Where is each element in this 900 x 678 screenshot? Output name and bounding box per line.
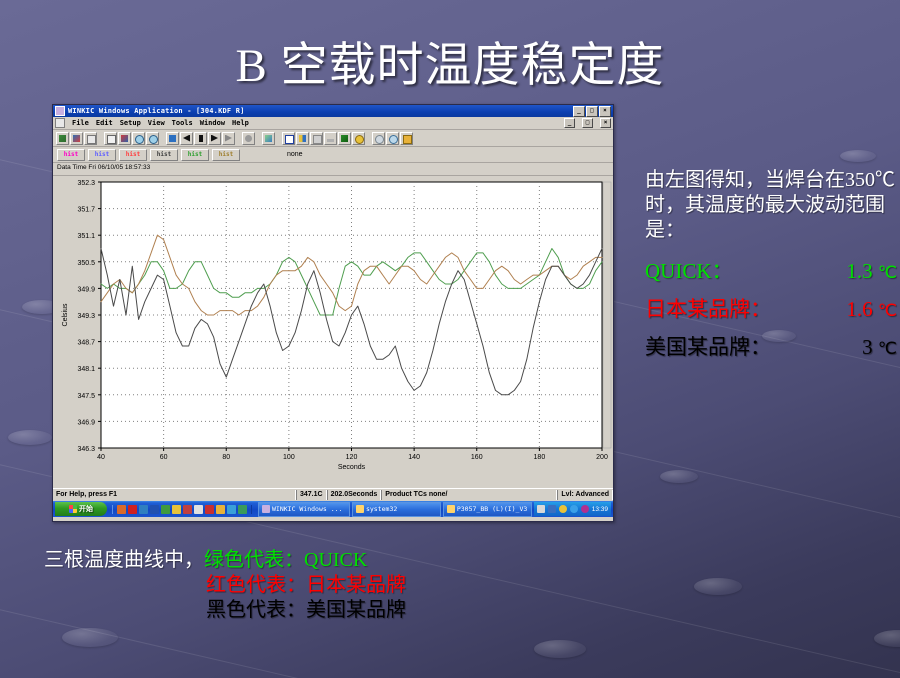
stat-icon[interactable]	[282, 132, 295, 145]
tray-icon[interactable]	[537, 505, 545, 513]
zoom-out-icon[interactable]	[146, 132, 159, 145]
info-icon[interactable]	[386, 132, 399, 145]
child-close-button[interactable]: ×	[600, 118, 611, 128]
menu-item-tools[interactable]: Tools	[172, 119, 193, 127]
result-unit-japan: ℃	[878, 301, 897, 320]
hist-button[interactable]: hist	[119, 149, 147, 161]
result-row-usa: 美国某品牌： 3 ℃	[645, 335, 897, 360]
tray-icon[interactable]	[581, 505, 589, 513]
svg-text:200: 200	[596, 454, 608, 461]
decor-ellipse	[62, 628, 118, 647]
window-title: WINKIC Windows Application - [304.KDF R]	[68, 107, 573, 115]
maximize-button[interactable]: □	[586, 106, 598, 117]
svg-text:346.9: 346.9	[77, 419, 95, 426]
taskbar-item-label: P3057_BB (L)(I)_V3	[457, 505, 527, 513]
decor-ellipse	[874, 630, 900, 647]
play-icon[interactable]	[208, 132, 221, 145]
svg-text:346.3: 346.3	[77, 446, 95, 453]
result-row-quick: QUICK： 1.3 ℃	[645, 259, 897, 284]
windows-taskbar: 开始 WINKIC Windows ...	[53, 501, 613, 517]
quicklaunch-icon[interactable]	[139, 505, 148, 514]
zoom-in-icon[interactable]	[132, 132, 145, 145]
status-seconds: 202.0Seconds	[327, 490, 382, 500]
menu-item-window[interactable]: Window	[200, 119, 225, 127]
menu-item-edit[interactable]: Edit	[96, 119, 113, 127]
slide-canvas: B 空载时温度稳定度 由左图得知，当焊台在350℃时，其温度的最大波动范围是： …	[0, 0, 900, 678]
status-product: Product TCs none/	[381, 490, 557, 500]
start-button[interactable]: 开始	[55, 502, 107, 516]
step-back-icon[interactable]	[180, 132, 193, 145]
legend-line-quick: 绿色代表：QUICK	[204, 549, 367, 571]
menu-item-file[interactable]: File	[72, 119, 89, 127]
status-level: Lvl: Advanced	[557, 490, 613, 500]
tray-icon[interactable]	[559, 505, 567, 513]
explanation-paragraph: 由左图得知，当焊台在350℃时，其温度的最大波动范围是：	[645, 168, 897, 243]
svg-text:352.3: 352.3	[77, 180, 95, 187]
profile-icon[interactable]	[262, 132, 275, 145]
close-button[interactable]: ×	[599, 106, 611, 117]
svg-text:180: 180	[534, 454, 546, 461]
svg-text:349.9: 349.9	[77, 286, 95, 293]
quicklaunch-icon[interactable]	[205, 505, 214, 514]
svg-text:60: 60	[160, 454, 168, 461]
svg-text:140: 140	[408, 454, 420, 461]
fast-forward-icon[interactable]	[222, 132, 235, 145]
curve-legend: 三根温度曲线中，绿色代表：QUICK 红色代表：日本某品牌 黑色代表：美国某品牌	[44, 548, 406, 623]
hist-button[interactable]: hist	[88, 149, 116, 161]
status-temperature: 347.1C	[296, 490, 327, 500]
slide-title: B 空载时温度稳定度	[0, 26, 900, 95]
svg-text:349.3: 349.3	[77, 313, 95, 320]
table-icon[interactable]	[310, 132, 323, 145]
result-value-usa: 3	[862, 335, 873, 359]
taskbar-clock: 13:39	[592, 506, 608, 513]
taskbar-item-system32[interactable]: system32	[352, 502, 441, 517]
data-time-label: Data Time Fri 06/10/05 18:57:33	[53, 163, 613, 176]
decor-ellipse	[694, 578, 742, 595]
temperature-chart: 352.3351.7351.1350.5349.9349.3348.7348.1…	[53, 176, 613, 488]
quicklaunch-icon[interactable]	[227, 505, 236, 514]
toolbar	[53, 130, 613, 147]
child-restore-button[interactable]: □	[582, 118, 593, 128]
decor-ellipse	[8, 430, 52, 445]
svg-text:347.5: 347.5	[77, 393, 95, 400]
svg-text:351.7: 351.7	[77, 207, 95, 214]
explanation-block: 由左图得知，当焊台在350℃时，其温度的最大波动范围是： QUICK： 1.3 …	[645, 168, 897, 373]
result-unit-quick: ℃	[878, 263, 897, 282]
chart-area: 352.3351.7351.1350.5349.9349.3348.7348.1…	[53, 176, 613, 488]
application-icon	[55, 106, 65, 116]
quicklaunch-icon[interactable]	[238, 505, 247, 514]
quick-launch-bar	[112, 505, 252, 514]
menu-bar: File Edit Setup View Tools Window Help _…	[53, 117, 613, 130]
result-unit-usa: ℃	[878, 339, 897, 358]
result-label-japan: 日本某品牌：	[645, 297, 771, 322]
taskbar-item-winkic[interactable]: WINKIC Windows ...	[258, 502, 350, 517]
svg-text:348.1: 348.1	[77, 366, 95, 373]
result-label-usa: 美国某品牌：	[645, 335, 771, 360]
quicklaunch-icon[interactable]	[216, 505, 225, 514]
quicklaunch-icon[interactable]	[117, 505, 126, 514]
decor-ellipse	[660, 470, 698, 483]
folder-icon	[356, 505, 364, 513]
edit-icon[interactable]	[104, 132, 117, 145]
menu-item-setup[interactable]: Setup	[120, 119, 141, 127]
svg-text:40: 40	[97, 454, 105, 461]
hist-button[interactable]: hist	[212, 149, 240, 161]
svg-text:100: 100	[283, 454, 295, 461]
windows-flag-icon	[69, 505, 77, 513]
grid-icon[interactable]	[296, 132, 309, 145]
status-help: For Help, press F1	[53, 490, 296, 500]
link-icon[interactable]	[324, 132, 337, 145]
hist-none-label: none	[287, 151, 303, 158]
result-label-quick: QUICK：	[645, 259, 733, 284]
quicklaunch-icon[interactable]	[172, 505, 181, 514]
quicklaunch-icon[interactable]	[150, 505, 159, 514]
quicklaunch-icon[interactable]	[194, 505, 203, 514]
result-value-quick: 1.3	[846, 259, 872, 283]
winkic-icon	[262, 505, 270, 513]
comment-icon[interactable]	[400, 132, 413, 145]
legend-line-japan: 红色代表：日本某品牌	[206, 573, 406, 598]
document-icon[interactable]	[55, 118, 65, 128]
status-bar: For Help, press F1 347.1C 202.0Seconds P…	[53, 488, 613, 501]
print-icon[interactable]	[84, 132, 97, 145]
decor-ellipse	[840, 150, 876, 162]
svg-text:348.7: 348.7	[77, 340, 95, 347]
hist-button[interactable]: hist	[150, 149, 178, 161]
undo-icon[interactable]	[166, 132, 179, 145]
svg-text:Celsius: Celsius	[62, 303, 69, 326]
hist-button[interactable]: hist	[181, 149, 209, 161]
save-data-icon[interactable]	[70, 132, 83, 145]
start-button-label: 开始	[79, 504, 93, 514]
hist-button[interactable]: hist	[57, 149, 85, 161]
window-titlebar: WINKIC Windows Application - [304.KDF R]…	[53, 105, 613, 117]
taskbar-item-label: WINKIC Windows ...	[272, 505, 342, 513]
tray-icon[interactable]	[548, 505, 556, 513]
svg-text:Seconds: Seconds	[338, 464, 366, 471]
menu-item-view[interactable]: View	[148, 119, 165, 127]
child-minimize-button[interactable]: _	[564, 118, 575, 128]
svg-text:80: 80	[222, 454, 230, 461]
quicklaunch-icon[interactable]	[128, 505, 137, 514]
taskbar-item-p3057[interactable]: P3057_BB (L)(I)_V3	[443, 502, 532, 517]
decor-ellipse	[534, 640, 586, 658]
folder-icon	[447, 505, 455, 513]
quicklaunch-icon[interactable]	[161, 505, 170, 514]
tray-icon[interactable]	[570, 505, 578, 513]
svg-text:120: 120	[346, 454, 358, 461]
menu-item-help[interactable]: Help	[232, 119, 249, 127]
svg-text:351.1: 351.1	[77, 233, 95, 240]
taskbar-item-label: system32	[366, 505, 397, 513]
result-row-japan: 日本某品牌： 1.6 ℃	[645, 297, 897, 322]
pause-icon[interactable]	[194, 132, 207, 145]
minimize-button[interactable]: _	[573, 106, 585, 117]
open-file-icon[interactable]	[56, 132, 69, 145]
legend-intro: 三根温度曲线中，	[44, 549, 204, 571]
save-icon[interactable]	[118, 132, 131, 145]
quicklaunch-icon[interactable]	[183, 505, 192, 514]
inspect-icon[interactable]	[372, 132, 385, 145]
hist-button-bar: hist hist hist hist hist hist none	[53, 147, 613, 163]
legend-line-usa: 黑色代表：美国某品牌	[206, 598, 406, 623]
record-icon[interactable]	[242, 132, 255, 145]
winkic-application-window: WINKIC Windows Application - [304.KDF R]…	[52, 104, 614, 522]
clock-icon[interactable]	[352, 132, 365, 145]
flag-icon[interactable]	[338, 132, 351, 145]
result-value-japan: 1.6	[846, 297, 872, 321]
svg-text:350.5: 350.5	[77, 260, 95, 267]
svg-text:160: 160	[471, 454, 483, 461]
system-tray: 13:39	[534, 502, 611, 516]
